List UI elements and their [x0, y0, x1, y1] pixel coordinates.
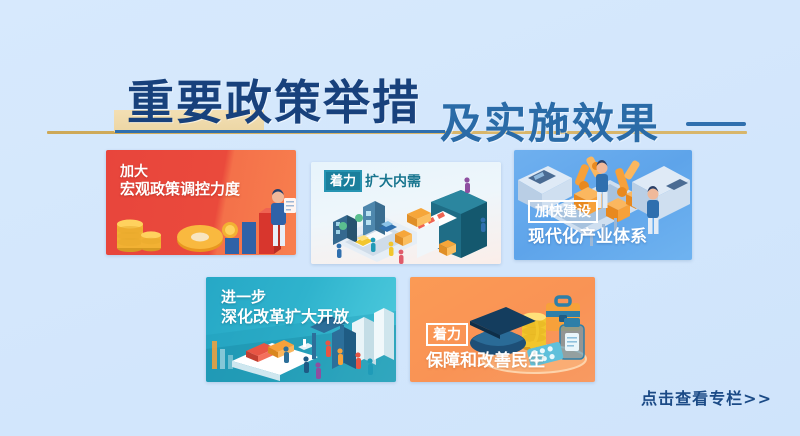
policy-card-expand-demand[interactable]: 着力扩大内需	[311, 162, 501, 264]
card-caption-line2: 宏观政策调控力度	[120, 180, 240, 199]
card-caption-line1: 加大	[120, 163, 240, 180]
card-caption-line1: 着力	[324, 170, 362, 192]
card-caption: 进一步 深化改革扩大开放	[221, 288, 349, 328]
card-caption: 加大 宏观政策调控力度	[120, 163, 240, 199]
policy-card-reform-opening[interactable]: 进一步 深化改革扩大开放	[206, 277, 396, 382]
card-caption-line1: 进一步	[221, 288, 349, 307]
card-caption-line1: 着力	[426, 323, 468, 346]
card-caption: 着力扩大内需	[324, 170, 421, 192]
view-column-link[interactable]: 点击查看专栏>>	[641, 385, 772, 409]
policy-card-grid: 加大 宏观政策调控力度	[0, 0, 800, 436]
card-caption-line1: 加快建设	[528, 200, 598, 223]
policy-card-macro-regulation[interactable]: 加大 宏观政策调控力度	[106, 150, 296, 255]
policy-card-livelihood[interactable]: 着力 保障和改善民生	[410, 277, 595, 382]
card-caption-line2: 保障和改善民生	[426, 350, 545, 372]
card-caption-line2: 深化改革扩大开放	[221, 307, 349, 328]
card-caption-line2: 现代化产业体系	[528, 226, 647, 248]
card-caption: 着力 保障和改善民生	[426, 323, 545, 372]
card-caption-line2: 扩大内需	[365, 171, 421, 191]
card-caption: 加快建设 现代化产业体系	[528, 200, 647, 248]
policy-card-modern-industry[interactable]: 加快建设 现代化产业体系	[514, 150, 692, 260]
